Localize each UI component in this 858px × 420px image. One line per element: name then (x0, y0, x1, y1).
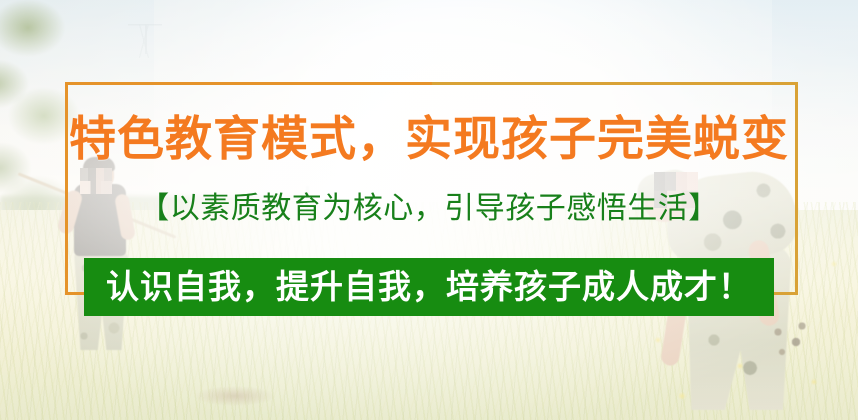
promo-banner: 特色教育模式，实现孩子完美蜕变 【以素质教育为核心，引导孩子感悟生活】 认识自我… (0, 0, 858, 420)
ribbon-text: 认识自我，提升自我，培养孩子成人成才！ (84, 258, 774, 316)
pulled-weeds (764, 318, 814, 364)
antenna-tower (128, 24, 162, 58)
dirt-patch (195, 386, 275, 406)
left-person-face-pixelation (80, 168, 112, 194)
ribbon-container: 认识自我，提升自我，培养孩子成人成才！ (0, 258, 858, 316)
subheadline-text: 【以素质教育为核心，引导孩子感悟生活】 (0, 192, 858, 225)
headline-text: 特色教育模式，实现孩子完美蜕变 (0, 114, 858, 165)
